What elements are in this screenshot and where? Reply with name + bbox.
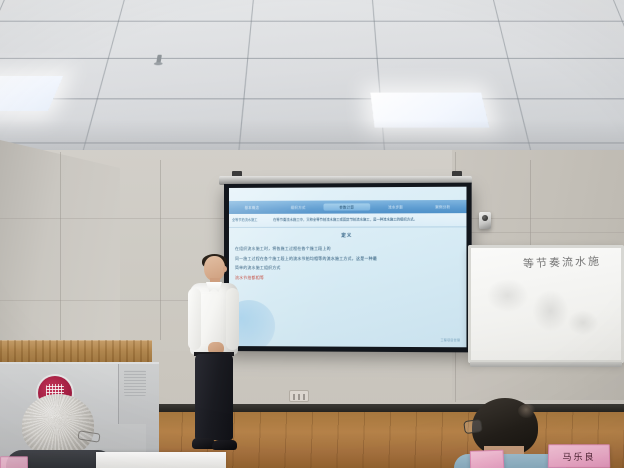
slide-nav-item: 组织方式 <box>275 205 321 210</box>
audience-glasses-icon <box>463 419 483 434</box>
slide-nav-bar: 基本概念 组织方式 参数计算 流水步距 案例分析 <box>229 200 466 214</box>
name-placard-main: 马乐良 <box>548 444 611 468</box>
slide-footer-note: 工程项目管理 <box>441 338 461 342</box>
slide-highlight-text: 流水节拍都相等 <box>235 273 458 283</box>
slide-nav-item-active: 参数计算 <box>323 203 370 210</box>
wall-camera-icon <box>479 212 491 229</box>
podium-speaker-grille-icon <box>124 370 146 396</box>
slide-title: 定义 <box>229 232 466 239</box>
slide-subheader: 全等节拍流水施工 在等节奏流水施工中，又称全等节拍流水施工或固定节拍流水施工，是… <box>229 213 466 228</box>
presenter-trousers <box>195 354 233 440</box>
front-table <box>96 452 226 468</box>
slide-body: 在组织流水施工时，将各施工过程在各个施工段上的 同一施工过程在各个施工段上的流水… <box>235 244 458 283</box>
wall-seam <box>60 152 61 342</box>
audience-hair-texture <box>22 394 94 456</box>
audience-head <box>22 394 94 456</box>
whiteboard-marker-tray <box>470 362 622 367</box>
wall-seam <box>530 160 531 246</box>
placard-name: 马乐良 <box>562 450 595 463</box>
wall-wood-trim <box>0 340 152 362</box>
lecture-room-photo: 基本概念 组织方式 参数计算 流水步距 案例分析 全等节拍流水施工 在等节奏流水… <box>0 0 624 468</box>
presenter <box>186 256 242 454</box>
slide-content: 基本概念 组织方式 参数计算 流水步距 案例分析 全等节拍流水施工 在等节奏流水… <box>229 187 466 348</box>
wall-seam <box>160 160 161 340</box>
whiteboard-erased-marks <box>479 270 609 355</box>
whiteboard-handwriting: 等节奏流水施 <box>523 253 602 272</box>
slide-subhead-tag: 全等节拍流水施工 <box>229 219 269 223</box>
slide-body-line: 在组织流水施工时，将各施工过程在各个施工段上的 <box>235 244 458 254</box>
name-placard <box>470 450 505 468</box>
wall-seam <box>455 232 624 233</box>
slide-body-line: 同一施工过程在各个施工段上的流水节拍均相等的流水施工方式，这是一种最 <box>235 253 458 263</box>
presenter-right-shoe <box>212 440 237 450</box>
name-placard <box>0 456 28 468</box>
projection-screen[interactable]: 基本概念 组织方式 参数计算 流水步距 案例分析 全等节拍流水施工 在等节奏流水… <box>224 183 472 353</box>
slide-body-line: 简单的流水施工组织方式 <box>235 263 458 273</box>
presenter-left-arm <box>188 288 201 350</box>
audience-hair-highlight <box>518 404 536 418</box>
wall-power-outlet <box>289 390 309 402</box>
presenter-ear <box>223 266 227 272</box>
whiteboard[interactable]: 等节奏流水施 <box>468 245 624 363</box>
slide-subhead-text: 在等节奏流水施工中，又称全等节拍流水施工或固定节拍流水施工，是一种流水施工的组织… <box>269 218 466 223</box>
slide-nav-item: 基本概念 <box>229 205 275 210</box>
slide-nav-item: 流水步距 <box>372 204 419 209</box>
presenter-right-arm <box>226 288 239 350</box>
slide-nav-item: 案例分析 <box>419 204 466 209</box>
screen-surface: 基本概念 组织方式 参数计算 流水步距 案例分析 全等节拍流水施工 在等节奏流水… <box>229 187 466 348</box>
